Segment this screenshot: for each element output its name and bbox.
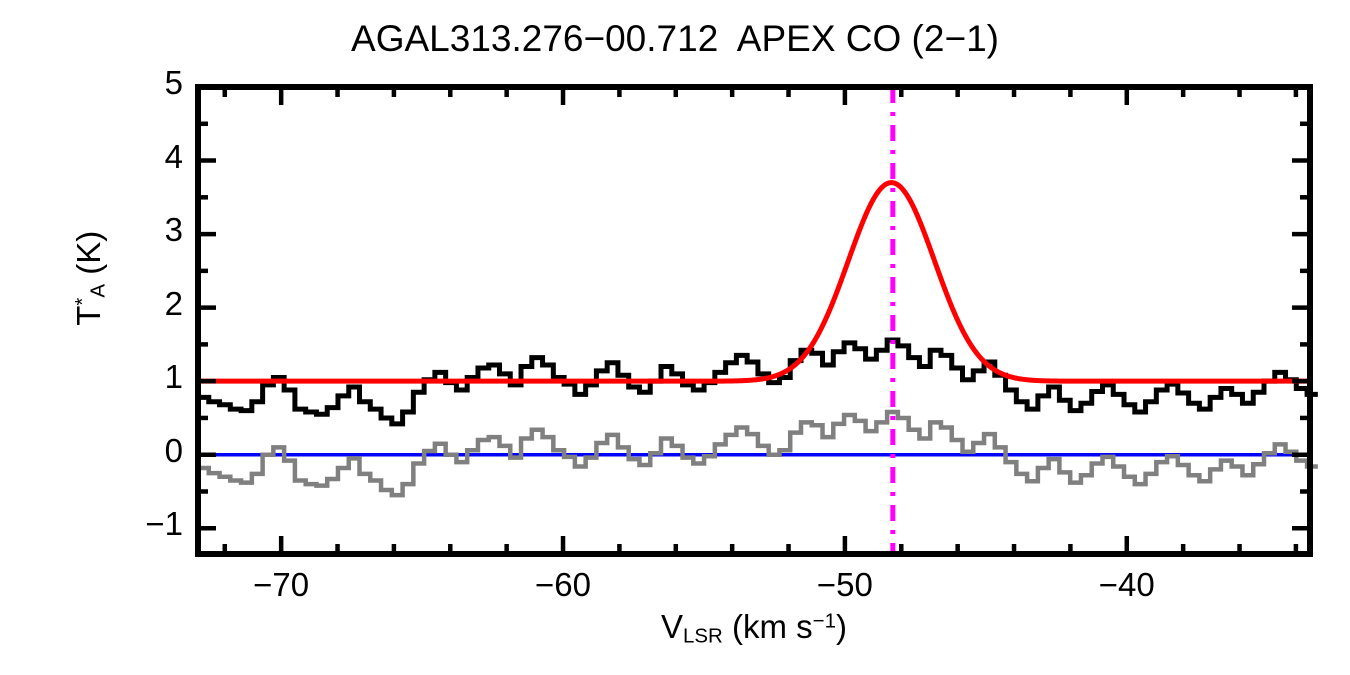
plot-root: AGAL313.276−00.712 APEX CO (2−1) T*A (K)… <box>0 0 1350 675</box>
x-tick-label: −60 <box>518 566 608 604</box>
gaussian-fit-curve <box>198 183 1310 382</box>
x-tick-label: −50 <box>800 566 890 604</box>
y-tick-label: 1 <box>88 358 183 396</box>
axis-ticks <box>198 87 1350 554</box>
y-tick-label: 0 <box>88 432 183 470</box>
y-tick-label: 2 <box>88 285 183 323</box>
y-tick-label: 5 <box>88 64 183 102</box>
y-tick-label: 3 <box>88 211 183 249</box>
x-tick-label: −70 <box>236 566 326 604</box>
y-tick-label: −1 <box>88 505 183 543</box>
y-tick-label: 4 <box>88 138 183 176</box>
x-tick-label: −40 <box>1082 566 1172 604</box>
